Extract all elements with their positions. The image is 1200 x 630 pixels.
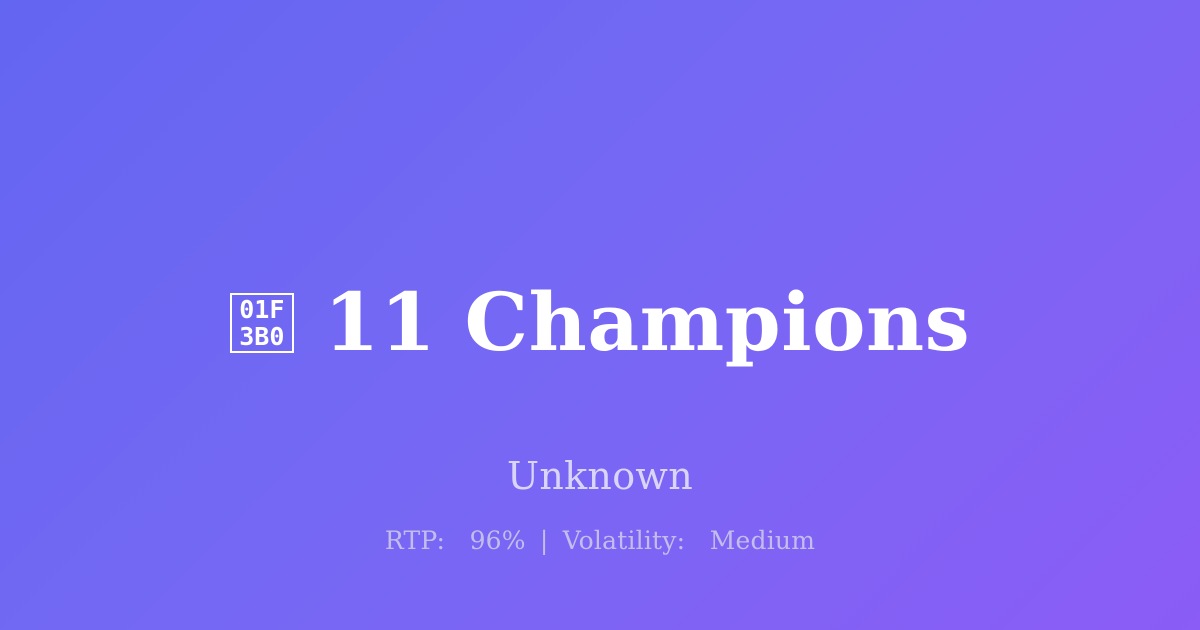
- tofu-codepoint-bottom: 3B0: [239, 323, 284, 350]
- hero-section: 01F 3B0 11 Champions Unknown: [0, 228, 1200, 495]
- rtp-value: 96%: [470, 526, 526, 555]
- meta-separator: |: [534, 526, 555, 555]
- tofu-codepoint-top: 01F: [239, 296, 284, 323]
- volatility-label: Volatility:: [563, 526, 686, 555]
- slot-machine-emoji-icon: 01F 3B0: [230, 293, 294, 353]
- game-meta-line: RTP: 96% | Volatility: Medium: [0, 528, 1200, 553]
- game-provider: Unknown: [507, 457, 693, 495]
- game-title: 11 Champions: [324, 282, 970, 362]
- title-row: 01F 3B0 11 Champions: [230, 228, 970, 415]
- game-og-card: 01F 3B0 11 Champions Unknown RTP: 96% | …: [0, 0, 1200, 630]
- rtp-label: RTP:: [385, 526, 445, 555]
- volatility-value: Medium: [710, 526, 815, 555]
